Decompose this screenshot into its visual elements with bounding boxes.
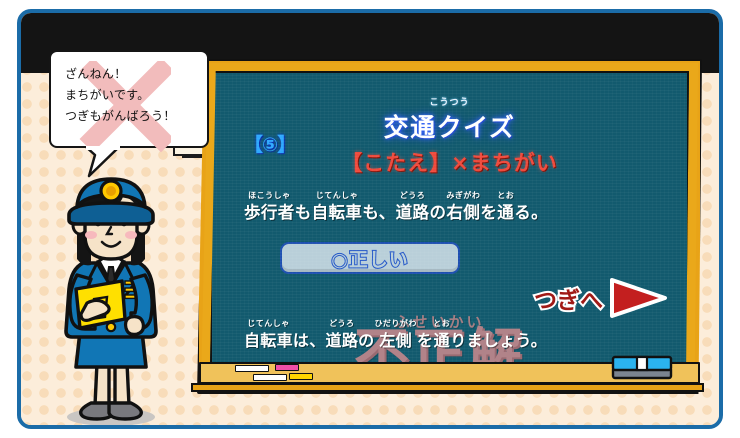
chalkboard-surface: 【⑤】 こうつう 交通クイズ 【こたえ】×まちがい ほこうしゃ歩行者 もじてんし… — [210, 71, 689, 366]
chalk-yellow[interactable] — [289, 373, 313, 380]
page-title: 交通クイズ — [212, 108, 687, 144]
chalkboard: 【⑤】 こうつう 交通クイズ 【こたえ】×まちがい ほこうしゃ歩行者 もじてんし… — [197, 59, 702, 394]
title-ruby: こうつう — [212, 95, 687, 108]
explanation-line: じてんしゃ自転車 は、どうろ道路 のひだりがわ左側 をとお通 りましょう。 — [244, 319, 677, 351]
chalk-pink[interactable] — [275, 364, 299, 371]
speech-bubble-tail — [83, 146, 125, 180]
question-text: ほこうしゃ歩行者 もじてんしゃ自転車 も、どうろ道路 のみぎがわ右側 をとお通 … — [244, 191, 667, 223]
chalk-tray-lip — [191, 383, 704, 392]
chalk-white-1[interactable] — [235, 365, 269, 372]
question-line: ほこうしゃ歩行者 もじてんしゃ自転車 も、どうろ道路 のみぎがわ右側 をとお通 … — [244, 191, 667, 223]
explanation-text: じてんしゃ自転車 は、どうろ道路 のひだりがわ左側 をとお通 りましょう。 — [244, 319, 677, 351]
speech-bubble-lines: ざんねん！ まちがいです。 つぎもがんばろう！ — [51, 52, 207, 127]
blackboard-eraser[interactable] — [611, 355, 673, 380]
app-frame: 【⑤】 こうつう 交通クイズ 【こたえ】×まちがい ほこうしゃ歩行者 もじてんし… — [17, 9, 723, 429]
speech-line-1: ざんねん！ — [65, 64, 207, 85]
answer-heading: 【こたえ】×まちがい — [212, 147, 687, 177]
quiz-screen: 【⑤】 こうつう 交通クイズ 【こたえ】×まちがい ほこうしゃ歩行者 もじてんし… — [0, 0, 740, 438]
selected-choice-label: ○正しい — [331, 245, 409, 272]
next-button-label: つぎへ — [534, 281, 603, 315]
police-officer-character — [47, 171, 175, 429]
play-arrow-icon — [607, 276, 669, 320]
speech-line-3: つぎもがんばろう！ — [65, 106, 207, 127]
speech-bubble: ざんねん！ まちがいです。 つぎもがんばろう！ — [49, 50, 209, 148]
next-button[interactable]: つぎへ — [534, 276, 669, 320]
chalk-white-2[interactable] — [253, 374, 287, 381]
selected-choice-button[interactable]: ○正しい — [280, 242, 460, 274]
title-block: こうつう 交通クイズ 【こたえ】×まちがい — [212, 95, 687, 177]
speech-line-2: まちがいです。 — [65, 85, 207, 106]
